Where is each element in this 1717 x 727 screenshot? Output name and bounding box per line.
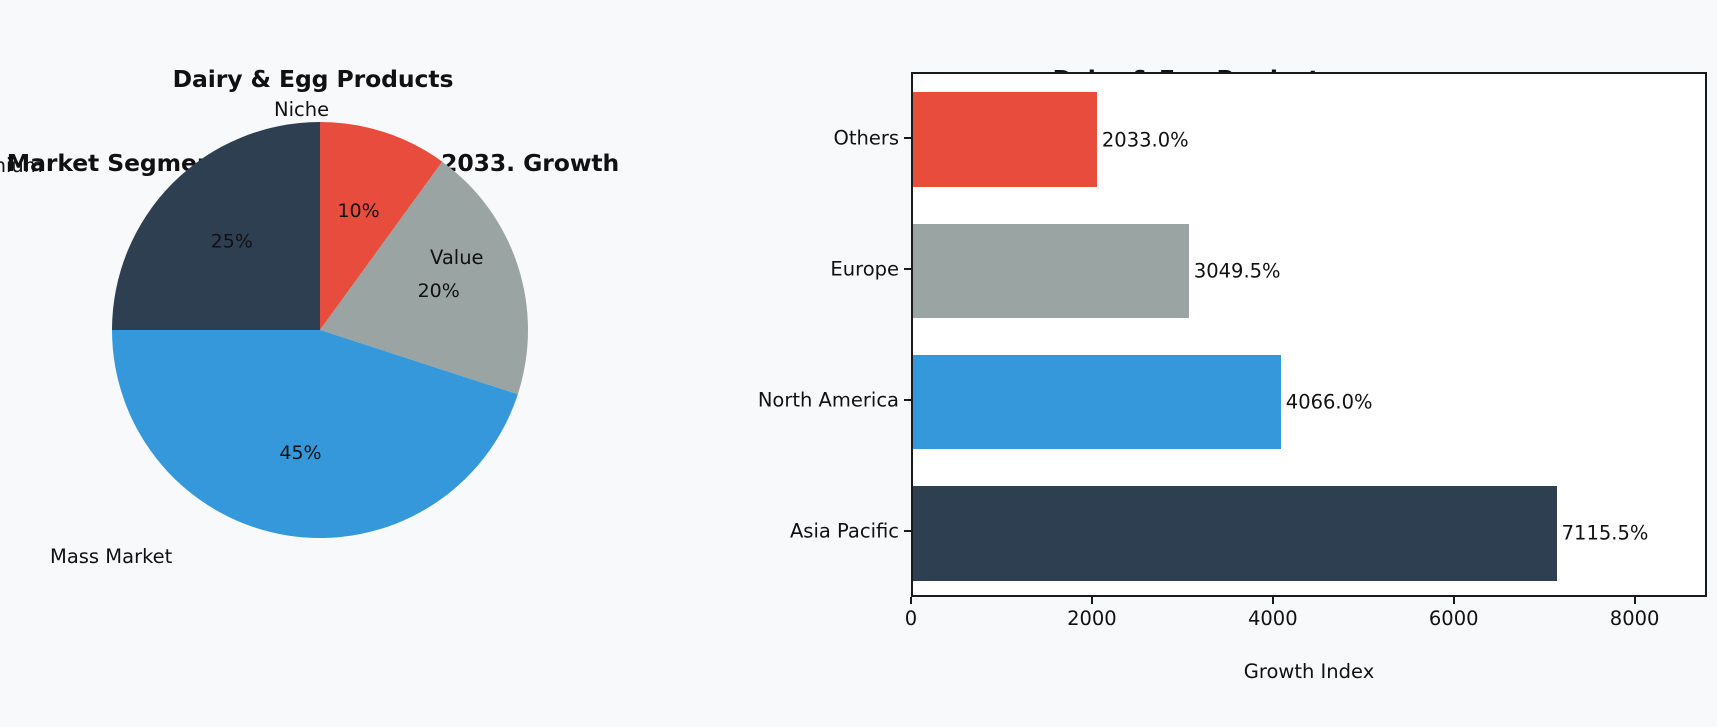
x-tick-label-2000: 2000 bbox=[1067, 607, 1117, 630]
pie-title-line-1: Dairy & Egg Products bbox=[0, 65, 626, 93]
pie-slice-premium bbox=[112, 122, 320, 330]
bar-value-label-europe: 3049.5% bbox=[1194, 259, 1281, 282]
y-tick-label-europe: Europe bbox=[830, 257, 899, 280]
pie-percent-value: 20% bbox=[418, 280, 460, 302]
x-tick-label-8000: 8000 bbox=[1610, 607, 1660, 630]
bar-chart-panel: Dairy & Egg Products Regional Distributi… bbox=[830, 0, 1717, 727]
bar-value-label-asia-pacific: 7115.5% bbox=[1562, 522, 1649, 545]
y-tick-mark-north-america bbox=[904, 399, 911, 401]
y-tick-mark-europe bbox=[904, 268, 911, 270]
pie-label-niche: Niche bbox=[274, 98, 329, 121]
pie-percent-mass-market: 45% bbox=[279, 442, 321, 464]
x-axis-title: Growth Index bbox=[911, 660, 1707, 683]
bar-europe bbox=[913, 224, 1189, 319]
bar-asia-pacific bbox=[913, 486, 1557, 581]
bar-north-america bbox=[913, 355, 1281, 450]
pie-chart-panel: Dairy & Egg Products Market Segmentation… bbox=[0, 64, 830, 664]
y-tick-mark-others bbox=[904, 137, 911, 139]
x-tick-mark-0 bbox=[910, 597, 912, 604]
x-tick-label-0: 0 bbox=[905, 607, 917, 630]
y-tick-mark-asia-pacific bbox=[904, 530, 911, 532]
x-tick-mark-8000 bbox=[1634, 597, 1636, 604]
x-tick-mark-6000 bbox=[1453, 597, 1455, 604]
bar-value-label-north-america: 4066.0% bbox=[1286, 391, 1373, 414]
x-tick-mark-2000 bbox=[1091, 597, 1093, 604]
pie-label-premium: Premium bbox=[0, 154, 43, 177]
figure-canvas: Dairy & Egg Products Market Segmentation… bbox=[0, 0, 1717, 727]
pie-percent-premium: 25% bbox=[211, 230, 253, 252]
y-tick-label-others: Others bbox=[833, 126, 899, 149]
pie-slices-group bbox=[112, 122, 528, 538]
pie-label-mass-market: Mass Market bbox=[50, 545, 172, 568]
bar-plot-area: 2033.0%3049.5%4066.0%7115.5% bbox=[911, 72, 1707, 597]
bar-value-label-others: 2033.0% bbox=[1102, 128, 1189, 151]
x-tick-label-4000: 4000 bbox=[1248, 607, 1298, 630]
x-tick-mark-4000 bbox=[1272, 597, 1274, 604]
x-axis-ticks-layer: 02000400060008000 bbox=[911, 597, 1707, 637]
pie-svg: 10%20%45%25% bbox=[110, 120, 530, 540]
pie-label-value: Value bbox=[430, 246, 484, 269]
x-tick-label-6000: 6000 bbox=[1429, 607, 1479, 630]
bar-others bbox=[913, 92, 1097, 187]
pie-percent-niche: 10% bbox=[337, 200, 379, 222]
y-tick-label-asia-pacific: Asia Pacific bbox=[790, 520, 899, 543]
y-tick-label-north-america: North America bbox=[758, 389, 899, 412]
pie-graphic: 10%20%45%25% bbox=[110, 120, 530, 540]
